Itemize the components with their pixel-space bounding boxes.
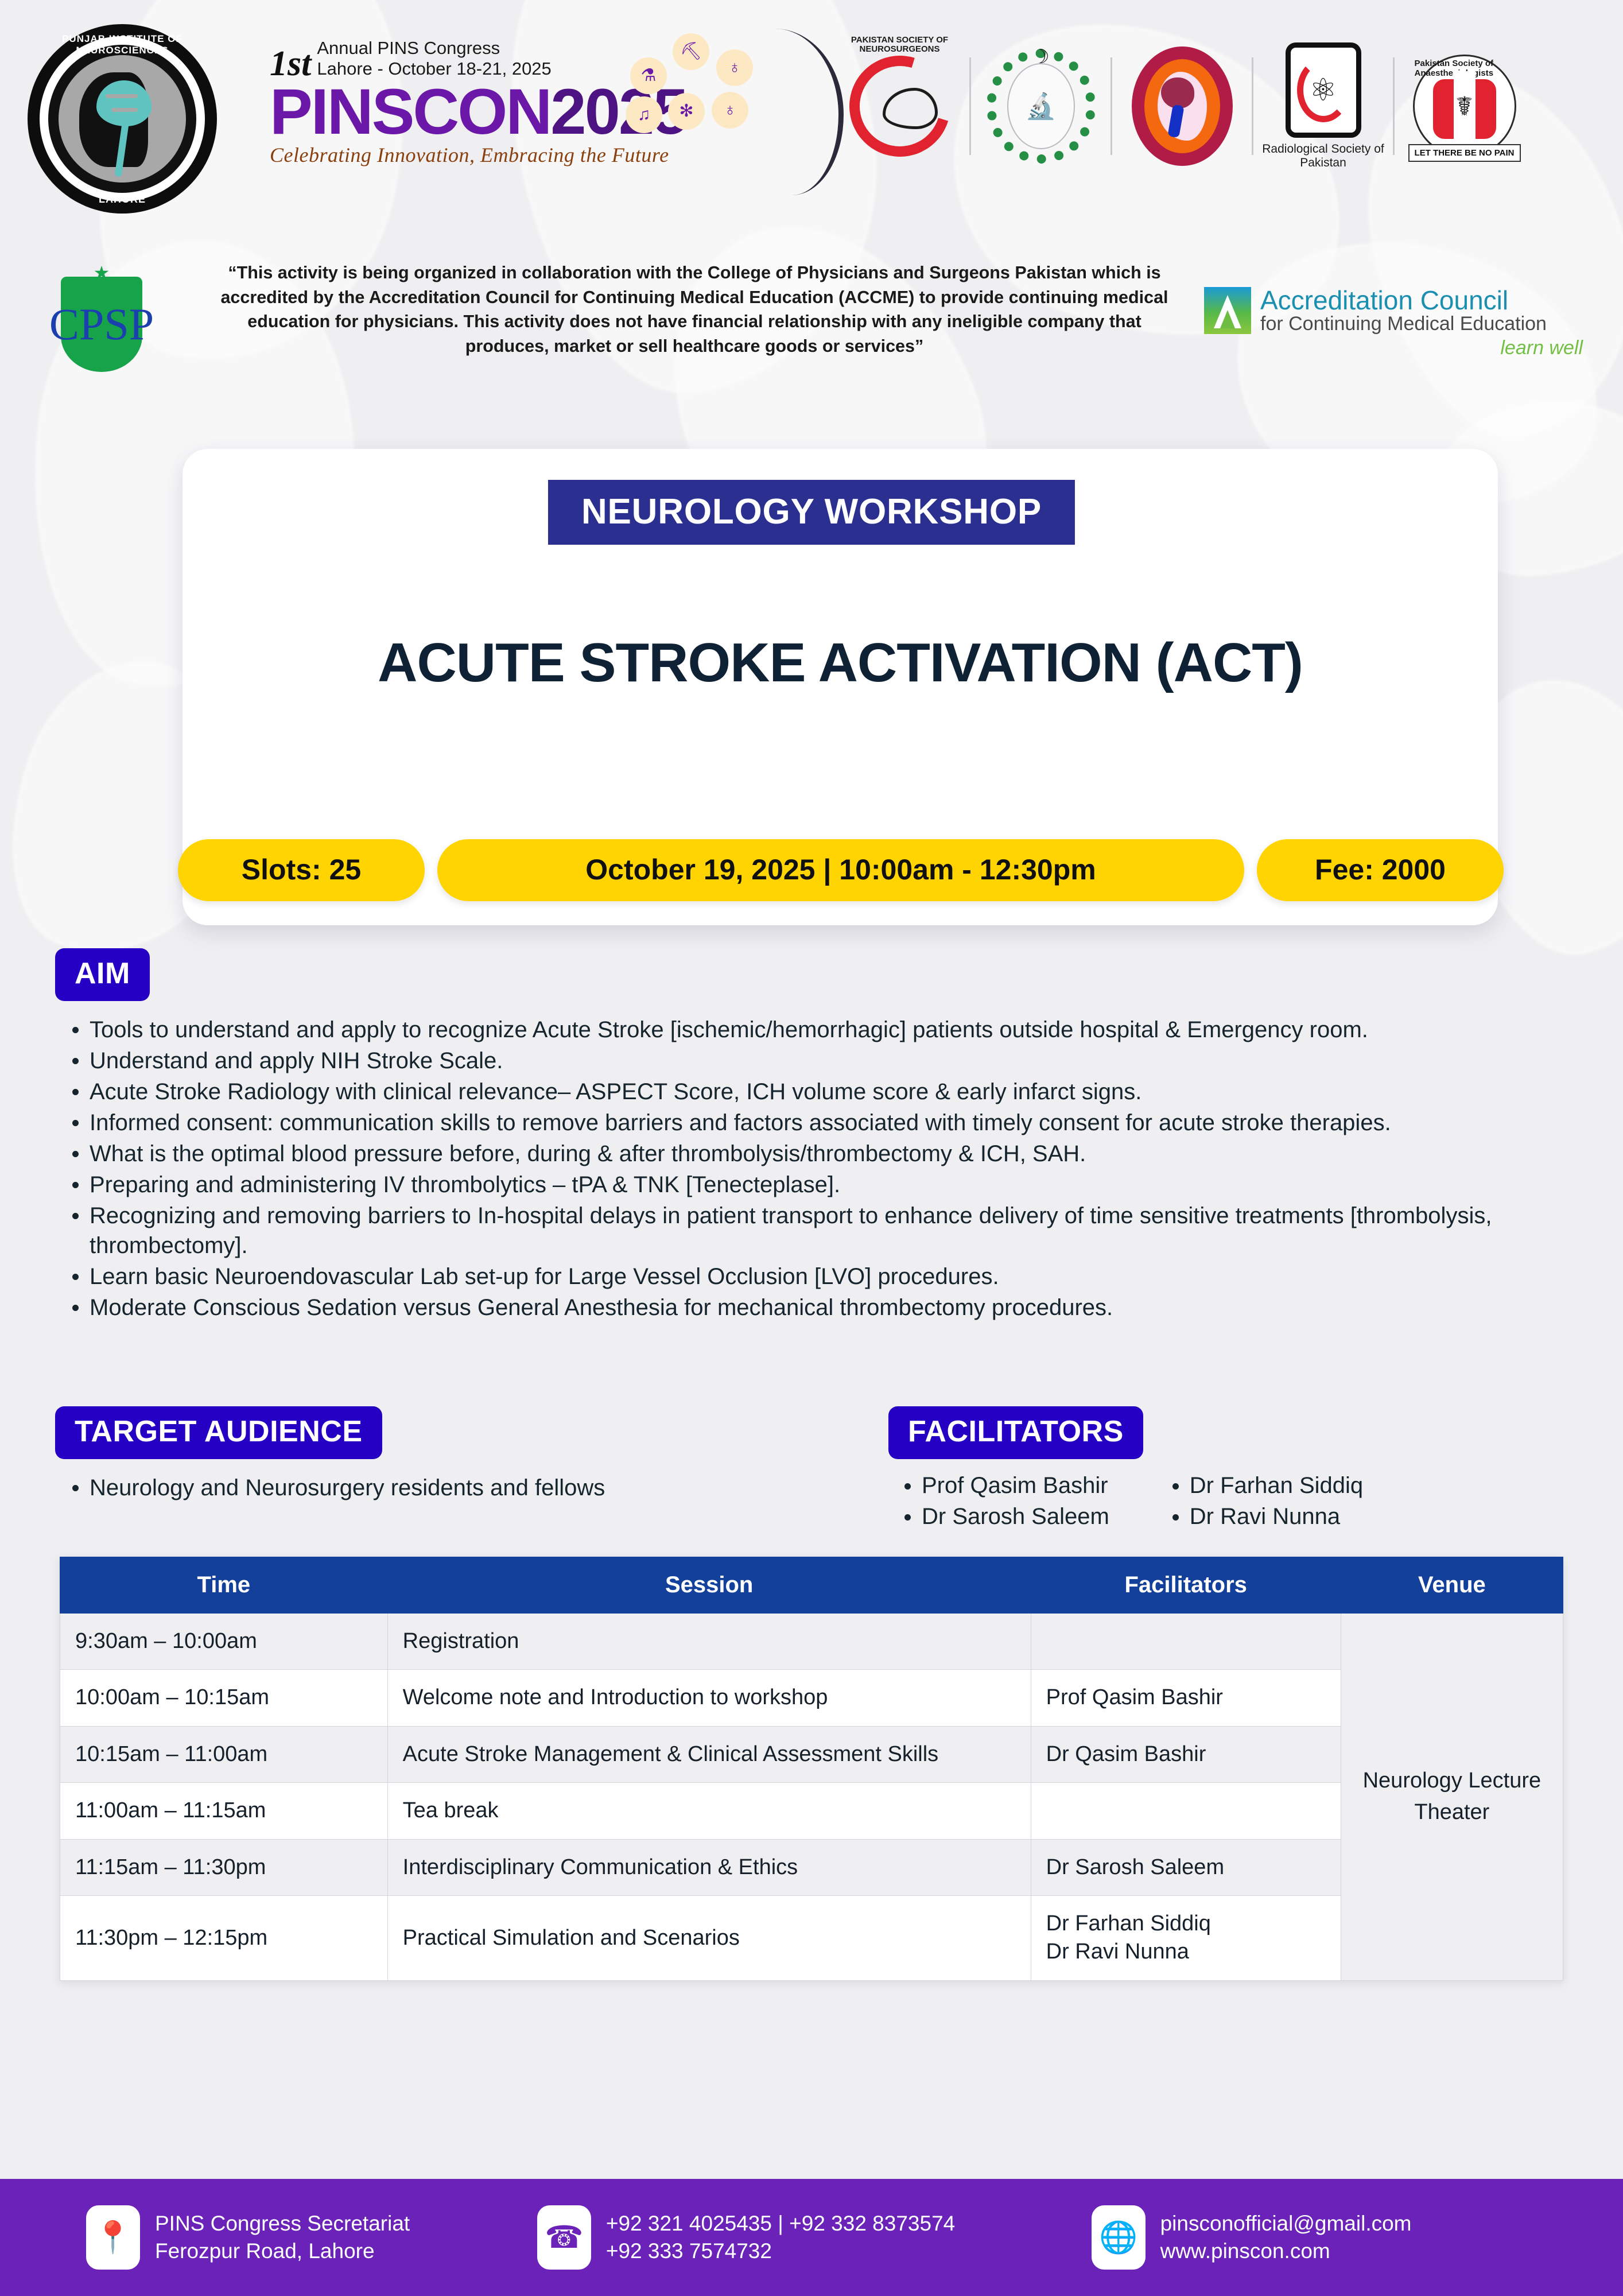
- cell-time: 10:00am – 10:15am: [60, 1670, 388, 1726]
- crescent-star-icon: ☽: [1032, 45, 1049, 68]
- accme-tagline: learn well: [1204, 337, 1583, 359]
- logo-divider: [969, 57, 971, 155]
- workshop-type-badge: NEUROLOGY WORKSHOP: [548, 480, 1075, 545]
- list-item: Understand and apply NIH Stroke Scale.: [63, 1046, 1572, 1076]
- congress-ordinal: 1st: [270, 49, 311, 79]
- cell-facilitators: Dr Sarosh Saleem: [1031, 1839, 1341, 1895]
- target-audience-badge: TARGET AUDIENCE: [55, 1406, 382, 1459]
- psn-label: PAKISTAN SOCIETY OF NEUROSURGEONS: [838, 34, 961, 178]
- cell-facilitators: [1031, 1783, 1341, 1839]
- aim-section-header: AIM: [55, 948, 150, 1001]
- pakistan-society-of-neurosurgeons-logo: PAKISTAN SOCIETY OF NEUROSURGEONS: [838, 34, 961, 178]
- rsp-label: Radiological Society of Pakistan: [1261, 142, 1385, 169]
- footer-email[interactable]: pinsconofficial@gmail.com: [1160, 2210, 1412, 2237]
- target-audience-list: Neurology and Neurosurgery residents and…: [63, 1473, 855, 1504]
- facilitators-column-left: Prof Qasim BashirDr Sarosh Saleem: [896, 1471, 1109, 1532]
- congress-subtitle-line1: Annual PINS Congress: [317, 38, 500, 58]
- column-header-session: Session: [387, 1557, 1031, 1614]
- footer-address-group: 📍 PINS Congress Secretariat Ferozpur Roa…: [86, 2205, 537, 2270]
- facilitator-item: Dr Sarosh Saleem: [896, 1502, 1109, 1533]
- globe-icon: 🌐: [1092, 2205, 1146, 2270]
- pakistan-association-of-pathologists-logo: ☽ 🔬: [979, 34, 1102, 178]
- accme-logo: Accreditation Council for Continuing Med…: [1204, 287, 1583, 359]
- logo-divider: [1252, 57, 1253, 155]
- cell-session: Registration: [387, 1614, 1031, 1670]
- list-item: Preparing and administering IV thromboly…: [63, 1170, 1572, 1200]
- footer-address-line2: Ferozpur Road, Lahore: [155, 2237, 410, 2265]
- facilitator-item: Dr Ravi Nunna: [1164, 1502, 1363, 1533]
- table-row: 11:00am – 11:15amTea break: [60, 1783, 1563, 1839]
- column-header-facilitators: Facilitators: [1031, 1557, 1341, 1614]
- radiological-society-of-pakistan-logo: ⚛ Radiological Society of Pakistan: [1261, 34, 1385, 178]
- fee-pill: Fee: 2000: [1257, 839, 1504, 901]
- target-audience-section-header: TARGET AUDIENCE: [55, 1406, 382, 1459]
- cell-session: Acute Stroke Management & Clinical Asses…: [387, 1726, 1031, 1782]
- cell-session: Tea break: [387, 1783, 1031, 1839]
- nerve-cell-icon: ✻: [668, 93, 705, 130]
- cpsp-monogram: CPSP: [61, 277, 142, 372]
- aim-badge: AIM: [55, 948, 150, 1001]
- list-item: What is the optimal blood pressure befor…: [63, 1139, 1572, 1169]
- head-profile-outline: [729, 29, 844, 195]
- table-row: 11:30pm – 12:15pmPractical Simulation an…: [60, 1895, 1563, 1980]
- cell-session: Practical Simulation and Scenarios: [387, 1895, 1031, 1980]
- emblem-top-label: PUNJAB INSTITUTE OF NEUROSCIENCES: [28, 33, 217, 56]
- cell-time: 9:30am – 10:00am: [60, 1614, 388, 1670]
- flyer-page: PUNJAB INSTITUTE OF NEUROSCIENCES LAHORE…: [0, 0, 1623, 2296]
- datetime-pill: October 19, 2025 | 10:00am - 12:30pm: [437, 839, 1244, 901]
- list-item: Acute Stroke Radiology with clinical rel…: [63, 1077, 1572, 1107]
- page-title: ACUTE STROKE ACTIVATION (ACT): [183, 631, 1498, 695]
- asclepius-rod-icon: ☤: [1454, 71, 1476, 141]
- accme-line1: Accreditation Council: [1260, 287, 1547, 313]
- table-row: 11:15am – 11:30pmInterdisciplinary Commu…: [60, 1839, 1563, 1895]
- accme-mark-icon: [1204, 287, 1251, 334]
- facilitators-columns: Prof Qasim BashirDr Sarosh Saleem Dr Far…: [896, 1471, 1585, 1532]
- table-row: 10:00am – 10:15amWelcome note and Introd…: [60, 1670, 1563, 1726]
- footer-web-group: 🌐 pinsconofficial@gmail.com www.pinscon.…: [1092, 2205, 1537, 2270]
- cell-venue: Neurology Lecture Theater: [1341, 1614, 1563, 1981]
- aim-list: Tools to understand and apply to recogni…: [63, 1015, 1572, 1324]
- location-pin-icon: 📍: [86, 2205, 140, 2270]
- facilitators-badge: FACILITATORS: [888, 1406, 1143, 1459]
- facilitator-item: Prof Qasim Bashir: [896, 1471, 1109, 1502]
- pins-institute-emblem-icon: PUNJAB INSTITUTE OF NEUROSCIENCES LAHORE: [28, 24, 217, 214]
- table-row: 10:15am – 11:00amAcute Stroke Management…: [60, 1726, 1563, 1782]
- slots-pill: Slots: 25: [178, 839, 425, 901]
- partner-society-logos: PAKISTAN SOCIETY OF NEUROSURGEONS ☽ 🔬: [838, 34, 1526, 178]
- table-header-row: Time Session Facilitators Venue: [60, 1557, 1563, 1614]
- pakistan-society-of-neurology-logo: [1120, 34, 1244, 178]
- footer-phone-line2[interactable]: +92 333 7574732: [606, 2237, 955, 2265]
- footer-phone-group: ☎ +92 321 4025435 | +92 332 8373574 +92 …: [537, 2205, 1092, 2270]
- logo-divider: [1393, 57, 1395, 155]
- accreditation-disclaimer: “This activity is being organized in col…: [218, 261, 1171, 359]
- facilitators-column-right: Dr Farhan SiddiqDr Ravi Nunna: [1164, 1471, 1363, 1532]
- cell-session: Welcome note and Introduction to worksho…: [387, 1670, 1031, 1726]
- key-info-pills: Slots: 25 October 19, 2025 | 10:00am - 1…: [178, 839, 1504, 901]
- page-header: PUNJAB INSTITUTE OF NEUROSCIENCES LAHORE…: [0, 0, 1623, 230]
- column-header-venue: Venue: [1341, 1557, 1563, 1614]
- footer-phone-line1[interactable]: +92 321 4025435 | +92 332 8373574: [606, 2210, 955, 2237]
- cpsp-crest-icon: ★ CPSP: [30, 258, 173, 390]
- cell-facilitators: Dr Qasim Bashir: [1031, 1726, 1341, 1782]
- page-footer: 📍 PINS Congress Secretariat Ferozpur Roa…: [0, 2179, 1623, 2296]
- psa-motto: LET THERE BE NO PAIN: [1408, 144, 1521, 162]
- list-item: Informed consent: communication skills t…: [63, 1108, 1572, 1138]
- cell-time: 11:15am – 11:30pm: [60, 1839, 388, 1895]
- cell-time: 11:00am – 11:15am: [60, 1783, 388, 1839]
- column-header-time: Time: [60, 1557, 388, 1614]
- cell-facilitators: Dr Farhan SiddiqDr Ravi Nunna: [1031, 1895, 1341, 1980]
- music-therapy-icon: ♫: [626, 96, 662, 133]
- footer-address-line1: PINS Congress Secretariat: [155, 2210, 410, 2237]
- pinscon-wordmark: PINSCON: [270, 82, 550, 142]
- list-item: Tools to understand and apply to recogni…: [63, 1015, 1572, 1045]
- schedule-table: Time Session Facilitators Venue 9:30am –…: [60, 1557, 1563, 1981]
- logo-divider: [1111, 57, 1112, 155]
- list-item: Neurology and Neurosurgery residents and…: [63, 1473, 855, 1503]
- footer-website[interactable]: www.pinscon.com: [1160, 2237, 1412, 2265]
- cell-time: 11:30pm – 12:15pm: [60, 1895, 388, 1980]
- accme-line2: for Continuing Medical Education: [1260, 313, 1547, 335]
- crescent-star-icon: ★: [94, 262, 110, 284]
- emblem-bottom-label: LAHORE: [28, 193, 217, 205]
- list-item: Learn basic Neuroendovascular Lab set-up…: [63, 1262, 1572, 1291]
- cell-session: Interdisciplinary Communication & Ethics: [387, 1839, 1031, 1895]
- pakistan-society-of-anaesthesiologists-logo: Pakistan Society of Anaesthesiologists ☤…: [1403, 34, 1526, 178]
- facilitators-section-header: FACILITATORS: [888, 1406, 1143, 1459]
- mri-scanner-icon: ⛏: [673, 33, 709, 70]
- list-item: Moderate Conscious Sedation versus Gener…: [63, 1293, 1572, 1322]
- phone-icon: ☎: [537, 2205, 591, 2270]
- radiology-emblem-icon: ⚛: [1309, 75, 1337, 106]
- microscope-icon: ⚗: [630, 57, 667, 94]
- cell-facilitators: Prof Qasim Bashir: [1031, 1670, 1341, 1726]
- facilitator-item: Dr Farhan Siddiq: [1164, 1471, 1363, 1502]
- list-item: Recognizing and removing barriers to In-…: [63, 1201, 1572, 1261]
- table-row: 9:30am – 10:00amRegistrationNeurology Le…: [60, 1614, 1563, 1670]
- cell-facilitators: [1031, 1614, 1341, 1670]
- cell-time: 10:15am – 11:00am: [60, 1726, 388, 1782]
